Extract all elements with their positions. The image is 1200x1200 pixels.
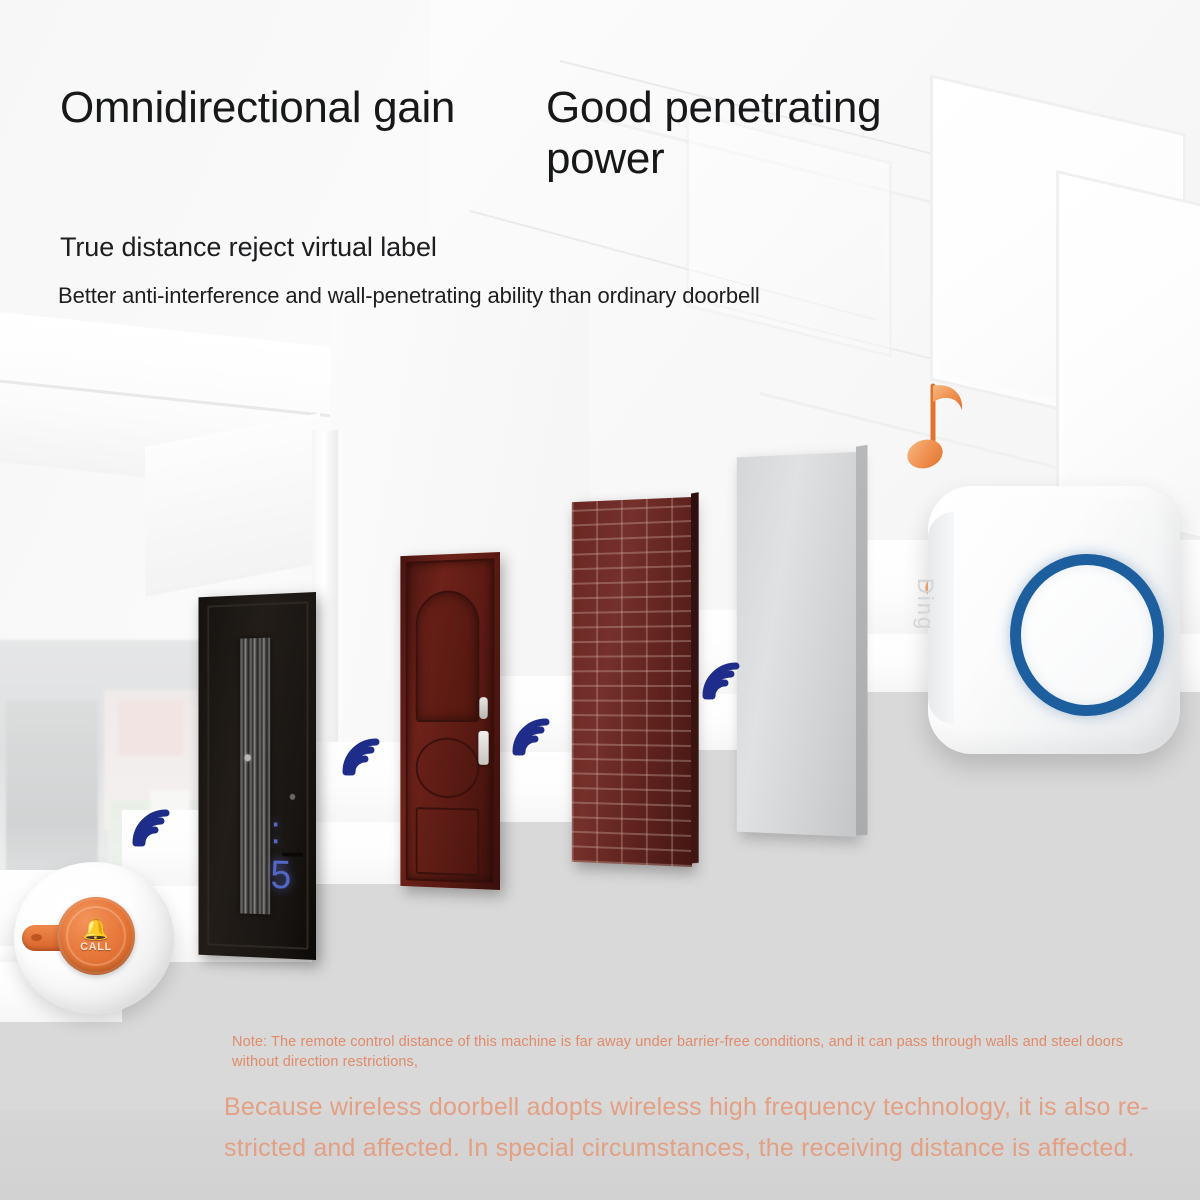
- music-note-icon: [906, 372, 978, 489]
- door-handle: [479, 731, 489, 765]
- step-shadow: [645, 748, 1200, 822]
- door-panel-top: [416, 590, 479, 722]
- footnote-disclaimer: Because wireless doorbell adopts wireles…: [224, 1087, 1184, 1168]
- product-feature-banner: : 5: [0, 0, 1200, 1200]
- obstacle-grey-wall: [737, 452, 857, 837]
- headline-right: Good penetrating power: [546, 82, 946, 185]
- door-lock-cylinder: [480, 697, 488, 719]
- wifi-signal-icon: [336, 724, 396, 782]
- doorbell-receiver-unit[interactable]: Ding: [928, 486, 1180, 754]
- brick-course-offset: [572, 497, 692, 867]
- call-button-ring: [66, 906, 126, 966]
- wifi-signal-icon: [696, 648, 756, 706]
- headline-left: Omnidirectional gain: [60, 82, 480, 133]
- door-panel-bottom: [416, 807, 479, 876]
- subhead-primary: True distance reject virtual label: [60, 232, 437, 263]
- door-chrome-strip: [240, 638, 271, 915]
- door-mail-slot: [282, 853, 303, 857]
- grey-wall-edge: [856, 445, 867, 836]
- doorbell-transmitter-button[interactable]: 🔔 CALL: [14, 862, 174, 1014]
- receiver-brand-label: Ding: [912, 578, 938, 631]
- obstacle-black-steel-door: : 5: [198, 592, 316, 960]
- subhead-secondary: Better anti-interference and wall-penetr…: [58, 281, 828, 310]
- obstacle-brick-wall: [572, 497, 692, 867]
- obstacle-wooden-door: [400, 552, 500, 890]
- call-button[interactable]: 🔔 CALL: [57, 897, 135, 975]
- step-shadow: [310, 882, 1200, 962]
- wifi-signal-icon: [506, 704, 566, 762]
- wifi-signal-icon: [126, 795, 186, 853]
- step-shadow: [120, 960, 1200, 1022]
- receiver-led-ring: [1010, 554, 1164, 716]
- footnote-note: Note: The remote control distance of thi…: [232, 1032, 1172, 1072]
